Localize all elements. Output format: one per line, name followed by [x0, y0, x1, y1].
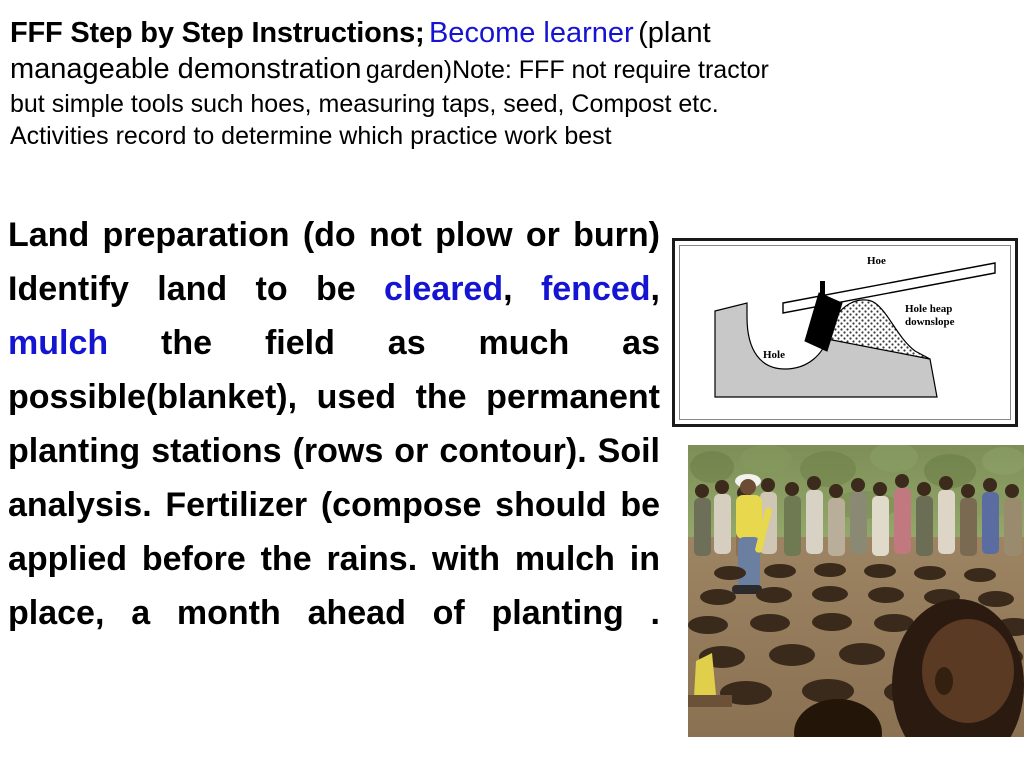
body-segment-3: fenced [541, 270, 651, 308]
header-title-tail: (plant [638, 17, 711, 49]
header-title-highlight: Become learner [429, 17, 634, 49]
diagram-label-hoe: Hoe [867, 255, 886, 268]
diagram-label-heap-line1: Hole heap [905, 303, 955, 316]
photo-ear [935, 667, 953, 695]
body-paragraph: Land preparation (do not plow or burn) I… [8, 208, 660, 694]
header-line-1: FFF Step by Step Instructions; Become le… [10, 18, 1010, 50]
body-segment-2: , [503, 270, 541, 308]
hoe-diagram-svg [675, 241, 1015, 424]
header-line-2-large: manageable demonstration [10, 53, 361, 85]
body-segment-4: , [651, 270, 660, 308]
diagram-label-hole: Hole [763, 349, 785, 362]
photo-plank [688, 695, 732, 707]
body-segment-6: the field as much as possible(blanket), … [8, 324, 660, 632]
hoe-diagram-figure: Hoe Hole Hole heap downslope [672, 238, 1018, 427]
diagram-label-heap-line2: downslope [905, 316, 955, 329]
hoe-neck [820, 281, 825, 297]
header-line-3: but simple tools such hoes, measuring ta… [10, 91, 1010, 119]
demonstration-field-photo [688, 445, 1024, 737]
body-segment-5: mulch [8, 324, 108, 362]
diagram-label-hole-heap: Hole heap downslope [905, 303, 955, 328]
header-line-2: manageable demonstration garden)Note: FF… [10, 54, 1010, 86]
header-line-2-small: garden)Note: FFF not require tractor [366, 56, 769, 84]
header-line-4: Activities record to determine which pra… [10, 123, 1010, 151]
hoe-handle [783, 263, 995, 313]
photo-foreground-face-right [922, 619, 1014, 723]
slide-header: FFF Step by Step Instructions; Become le… [10, 18, 1010, 153]
header-title-bold: FFF Step by Step Instructions; [10, 17, 425, 49]
body-segment-1: cleared [384, 270, 503, 308]
field-photo-art [688, 445, 1024, 737]
